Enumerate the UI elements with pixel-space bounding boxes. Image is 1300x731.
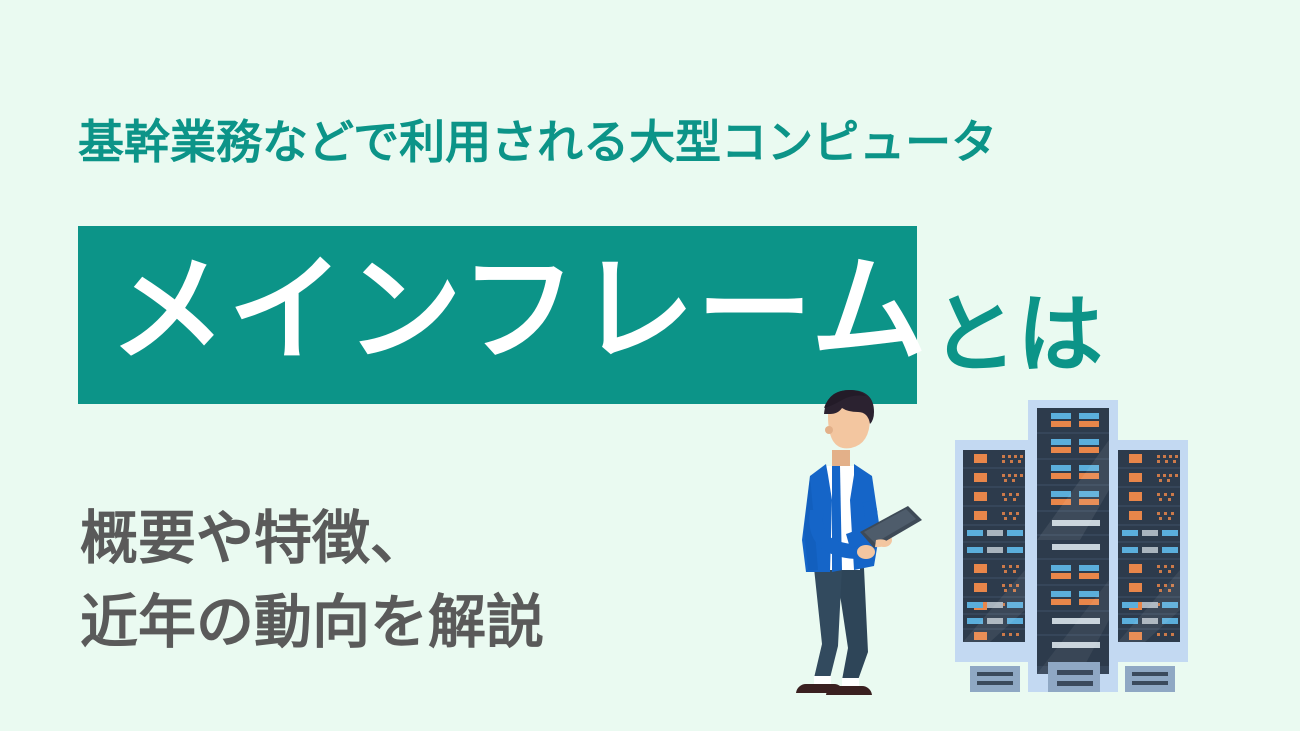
banner-lead-line-2: 近年の動向を解説 <box>80 580 544 664</box>
banner-title-main: メインフレーム <box>110 253 929 369</box>
banner-title-suffix: とは <box>931 292 1103 378</box>
server-rack-right <box>1110 440 1188 692</box>
server-rack-left <box>955 440 1033 692</box>
person-with-tablet <box>796 390 922 695</box>
banner-title-row: メインフレーム とは <box>78 226 1103 404</box>
server-rack-center <box>1028 400 1118 692</box>
banner-lead-text: 概要や特徴、 近年の動向を解説 <box>80 496 544 664</box>
banner-lead-line-1: 概要や特徴、 <box>80 496 544 580</box>
server-rack-group <box>955 400 1188 692</box>
banner-subtitle: 基幹業務などで利用される大型コンピュータ <box>78 116 997 169</box>
banner-canvas: 基幹業務などで利用される大型コンピュータ メインフレーム とは 概要や特徴、 近… <box>0 0 1300 731</box>
illustration-area <box>780 380 1200 710</box>
title-highlight-block: メインフレーム <box>78 226 917 404</box>
